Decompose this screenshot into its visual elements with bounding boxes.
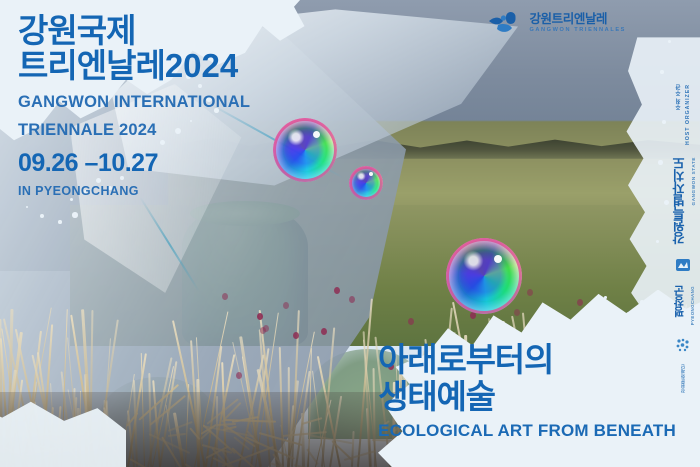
logo-english: GANGWON TRIENNALES [529, 28, 626, 34]
title-block: 강원국제 트리엔날레2024 GANGWON INTERNATIONAL TRI… [18, 14, 250, 198]
event-location: IN PYEONGCHANG [18, 184, 250, 198]
title-korean-line1: 강원국제 [18, 14, 250, 49]
berry [283, 302, 289, 309]
organizer-group: 강원특별자치도 GANGWON STATE [670, 157, 696, 245]
logo-text: 강원트리엔날레 GANGWON TRIENNALES [529, 13, 626, 34]
county-group: 평창군 PYEONGCHANG [672, 286, 695, 325]
logo-korean: 강원트리엔날레 [529, 13, 626, 26]
berry [527, 289, 533, 296]
sponsor-strip: 주최 주관 HOST ORGANIZER 강원특별자치도 GANGWON STA… [668, 84, 698, 393]
slogan-korean-line1: 아래로부터의 [378, 342, 676, 378]
event-dates: 09.26 –10.27 [18, 149, 250, 178]
torn-edge-speckle [58, 220, 62, 224]
poster-canvas: 강원국제 트리엔날레2024 GANGWON INTERNATIONAL TRI… [0, 0, 700, 467]
torn-edge-speckle [575, 318, 579, 322]
berry [236, 372, 242, 379]
berry [408, 318, 414, 325]
title-korean-line2-row: 트리엔날레2024 [18, 49, 250, 84]
foundation-korean: 강원문화재단 [680, 364, 686, 393]
bubble-highlight [313, 131, 320, 138]
gangwon-state-emblem-icon [674, 256, 692, 274]
torn-edge-speckle [598, 332, 602, 336]
torn-edge-speckle [658, 160, 663, 165]
berry [334, 287, 340, 294]
bubble-rim [349, 166, 383, 200]
county-english: PYEONGCHANG [690, 286, 695, 325]
berry [263, 325, 269, 332]
torn-edge-speckle [604, 296, 607, 299]
torn-edge-speckle [662, 120, 666, 124]
bubble-small [349, 166, 383, 200]
county-korean: 평창군 [672, 286, 688, 318]
title-year: 2024 [165, 47, 238, 84]
gangwon-triennale-bird-mark-icon [488, 10, 522, 36]
bubble-highlight [494, 255, 502, 263]
triennale-logo[interactable]: 강원트리엔날레 GANGWON TRIENNALES [488, 10, 626, 36]
host-label-korean: 주최 주관 [675, 84, 683, 110]
torn-edge-speckle [660, 70, 664, 74]
bubble-medium [446, 238, 522, 314]
pyeongchang-county-emblem-icon [675, 338, 691, 352]
berry [257, 313, 263, 320]
berry [222, 293, 228, 300]
berry [514, 309, 520, 316]
bubble-rim [273, 118, 337, 182]
organizer-english: GANGWON STATE [691, 157, 696, 205]
slogan-korean-line2: 생태예술 [378, 379, 676, 415]
bubble-rim [446, 238, 522, 314]
bubble-large [273, 118, 337, 182]
torn-edge-speckle [560, 330, 564, 334]
host-label-english: HOST ORGANIZER [685, 84, 691, 145]
berry [349, 296, 355, 303]
title-english-line2: TRIENNALE 2024 [18, 121, 250, 140]
title-korean-line2: 트리엔날레 [18, 47, 165, 84]
host-label-group: 주최 주관 HOST ORGANIZER [675, 84, 691, 145]
slogan-english: ECOLOGICAL ART FROM BENEATH [378, 421, 676, 441]
torn-edge-speckle [72, 212, 78, 218]
slogan-block: 아래로부터의 생태예술 ECOLOGICAL ART FROM BENEATH [378, 342, 676, 441]
organizer-korean: 강원특별자치도 [670, 157, 689, 245]
berry [470, 312, 476, 319]
berry [321, 328, 327, 335]
title-english-line1: GANGWON INTERNATIONAL [18, 93, 250, 112]
berry [577, 299, 583, 306]
